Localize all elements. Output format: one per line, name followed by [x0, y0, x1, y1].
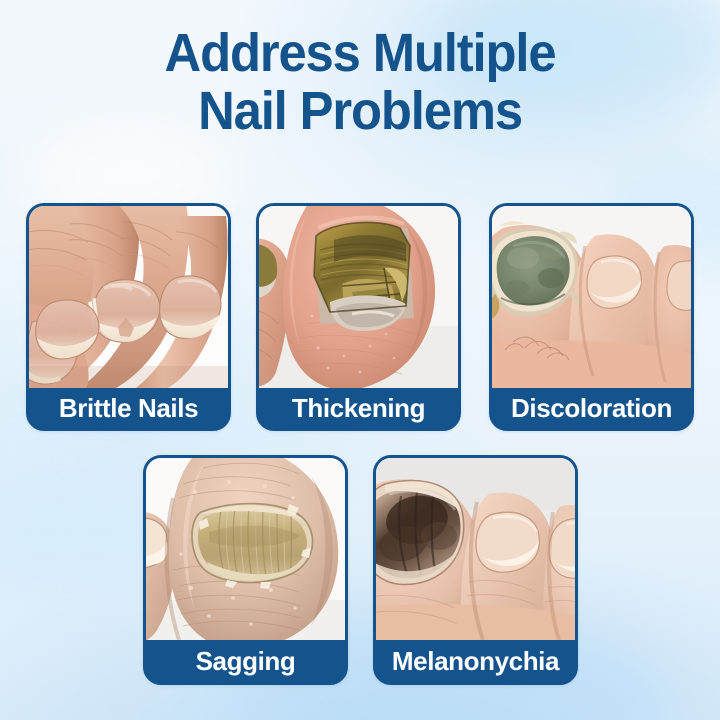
card-sagging[interactable]: Sagging	[143, 455, 348, 685]
card-discoloration-photo	[492, 206, 691, 388]
card-brittle-nails-label: Brittle Nails	[29, 388, 228, 428]
card-thickening[interactable]: Thickening	[256, 203, 461, 431]
card-brittle-nails-photo	[29, 206, 228, 388]
sagging-illustration	[146, 458, 345, 640]
card-melanonychia[interactable]: Melanonychia	[373, 455, 578, 685]
page-title-line-1: Address Multiple	[22, 24, 699, 82]
poster-canvas: Address Multiple Nail Problems	[0, 0, 720, 720]
discoloration-illustration	[492, 206, 691, 388]
card-melanonychia-photo	[376, 458, 575, 640]
melanonychia-illustration	[376, 458, 575, 640]
card-sagging-label: Sagging	[146, 640, 345, 682]
card-melanonychia-label: Melanonychia	[376, 640, 575, 682]
card-thickening-label: Thickening	[259, 388, 458, 428]
card-discoloration[interactable]: Discoloration	[489, 203, 694, 431]
page-title-line-2: Nail Problems	[22, 82, 699, 140]
card-discoloration-label: Discoloration	[492, 388, 691, 428]
page-title: Address Multiple Nail Problems	[22, 24, 699, 140]
card-sagging-photo	[146, 458, 345, 640]
card-thickening-photo	[259, 206, 458, 388]
brittle-nails-illustration	[29, 206, 228, 388]
card-brittle-nails[interactable]: Brittle Nails	[26, 203, 231, 431]
thickening-illustration	[259, 206, 458, 388]
